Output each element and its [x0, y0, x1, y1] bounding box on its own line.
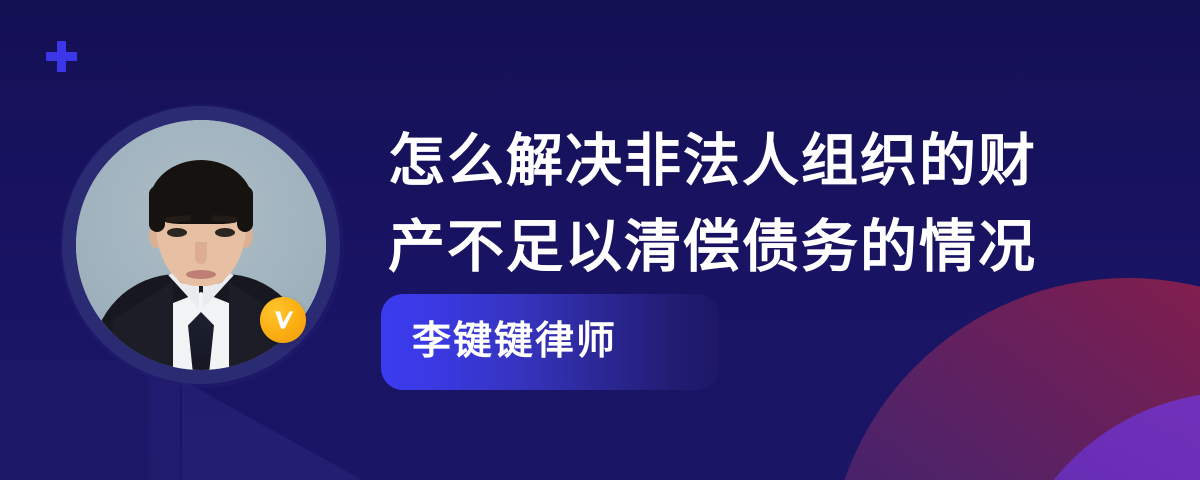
- portrait-eye-left: [167, 228, 187, 237]
- avatar: [62, 106, 340, 384]
- verified-v-icon: [260, 297, 306, 343]
- page-title-line-2: 产不足以清偿债务的情况: [388, 204, 1088, 290]
- decorative-panel-mid: [148, 374, 180, 480]
- decorative-blob-crimson: [828, 278, 1200, 480]
- portrait-hair-side-right: [237, 186, 253, 232]
- decorative-blob-violet: [1002, 392, 1200, 480]
- page-title: 怎么解决非法人组织的财 产不足以清偿债务的情况: [388, 118, 1088, 290]
- portrait-eye-right: [215, 228, 235, 237]
- plus-icon: [46, 41, 77, 72]
- portrait-hair-side-left: [149, 186, 165, 232]
- decorative-wedge: [182, 380, 362, 480]
- portrait-nose: [195, 242, 207, 264]
- page-title-line-1: 怎么解决非法人组织的财: [388, 118, 1088, 204]
- banner-card: 怎么解决非法人组织的财 产不足以清偿债务的情况 李键键律师: [0, 0, 1200, 480]
- portrait-mouth: [186, 270, 216, 279]
- author-name: 李键键律师: [412, 316, 617, 368]
